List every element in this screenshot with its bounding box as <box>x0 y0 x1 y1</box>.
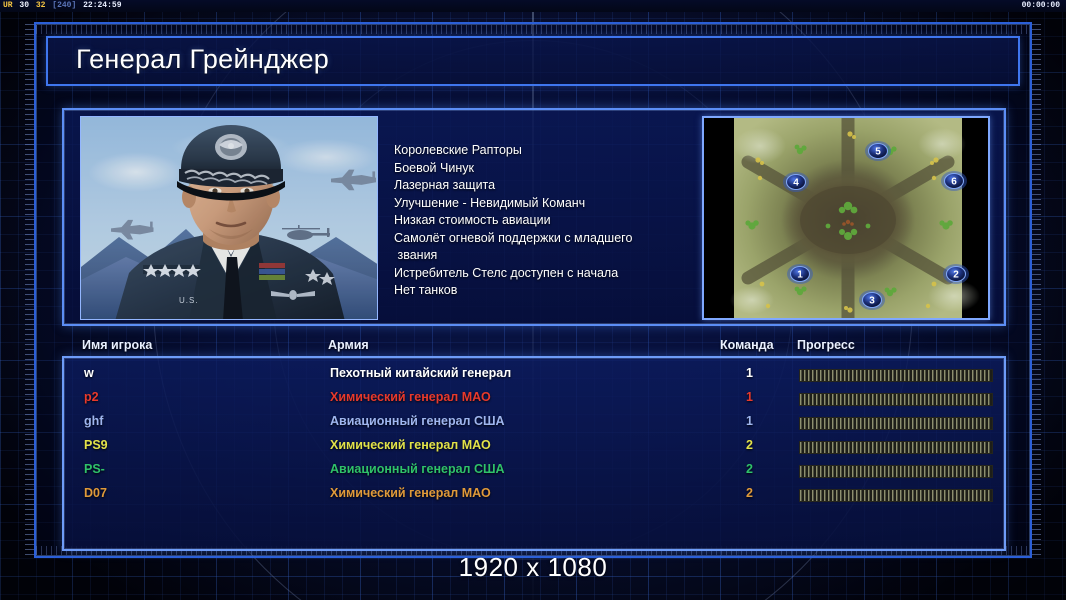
ability-line: Королевские Рапторы <box>394 142 704 160</box>
player-progress-bar <box>799 465 993 478</box>
player-progress-bar <box>799 417 993 430</box>
player-progress-fill <box>800 418 992 429</box>
player-army: Авиационный генерал США <box>330 462 505 476</box>
status-token-1: 30 <box>18 1 30 10</box>
ability-line: Боевой Чинук <box>394 160 704 178</box>
player-progress-bar <box>799 441 993 454</box>
top-status-bar: UR 30 32 [240] 22:24:59 00:00:00 <box>0 0 1066 12</box>
player-team: 2 <box>746 462 753 476</box>
general-portrait: U.S. <box>80 116 378 320</box>
map-start-position-6: 6 <box>941 171 967 191</box>
players-table-header: Имя игрока Армия Команда Прогресс <box>62 338 1006 358</box>
title-panel: Генерал Грейнджер <box>46 36 1020 86</box>
table-row[interactable]: wПехотный китайский генерал1 <box>64 366 1008 390</box>
general-abilities-list: Королевские РапторыБоевой ЧинукЛазерная … <box>394 142 704 300</box>
player-name: PS9 <box>84 438 108 452</box>
player-army: Химический генерал МАО <box>330 438 491 452</box>
ability-line: Улучшение - Невидимый Команч <box>394 195 704 213</box>
map-start-position-4: 4 <box>783 172 809 192</box>
session-clock: 00:00:00 <box>1022 0 1060 12</box>
ruler-right <box>1032 24 1041 556</box>
player-name: p2 <box>84 390 99 404</box>
player-army: Пехотный китайский генерал <box>330 366 511 380</box>
status-tokens: UR 30 32 [240] 22:24:59 <box>2 0 123 12</box>
player-progress-fill <box>800 490 992 501</box>
status-token-4: 22:24:59 <box>82 1 122 10</box>
player-progress-fill <box>800 442 992 453</box>
player-army: Химический генерал МАО <box>330 486 491 500</box>
column-header-name: Имя игрока <box>82 338 152 352</box>
status-token-2: 32 <box>35 1 47 10</box>
player-progress-bar <box>799 369 993 382</box>
player-progress-fill <box>800 466 992 477</box>
resolution-watermark: 1920 x 1080 <box>0 552 1066 583</box>
map-preview: 123456 <box>702 116 990 320</box>
table-row[interactable]: ghfАвиационный генерал США1 <box>64 414 1008 438</box>
column-header-progress: Прогресс <box>797 338 855 352</box>
players-table: wПехотный китайский генерал1p2Химический… <box>62 356 1006 551</box>
table-row[interactable]: PS9Химический генерал МАО2 <box>64 438 1008 462</box>
page-title: Генерал Грейнджер <box>76 44 329 75</box>
ability-line: Низкая стоимость авиации <box>394 212 704 230</box>
ruler-left <box>25 24 34 556</box>
table-row[interactable]: PS-Авиационный генерал США2 <box>64 462 1008 486</box>
player-name: PS- <box>84 462 105 476</box>
player-team: 2 <box>746 438 753 452</box>
map-start-position-5: 5 <box>865 141 891 161</box>
general-info-panel: U.S. <box>62 108 1006 326</box>
svg-text:5: 5 <box>875 147 881 158</box>
player-name: w <box>84 366 94 380</box>
ability-line: Лазерная защита <box>394 177 704 195</box>
status-token-0: UR <box>2 1 14 10</box>
ability-line: Самолёт огневой поддержки с младшего зва… <box>394 230 704 265</box>
player-team: 2 <box>746 486 753 500</box>
table-row[interactable]: p2Химический генерал МАО1 <box>64 390 1008 414</box>
svg-text:2: 2 <box>953 270 959 281</box>
player-team: 1 <box>746 366 753 380</box>
player-name: D07 <box>84 486 107 500</box>
player-name: ghf <box>84 414 103 428</box>
player-army: Авиационный генерал США <box>330 414 505 428</box>
svg-text:4: 4 <box>793 178 799 189</box>
svg-text:6: 6 <box>951 177 957 188</box>
player-progress-fill <box>800 394 992 405</box>
player-team: 1 <box>746 414 753 428</box>
svg-text:3: 3 <box>869 296 875 307</box>
player-army: Химический генерал МАО <box>330 390 491 404</box>
column-header-team: Команда <box>720 338 774 352</box>
player-progress-fill <box>800 370 992 381</box>
ability-line: Истребитель Стелс доступен с начала <box>394 265 704 283</box>
table-row[interactable]: D07Химический генерал МАО2 <box>64 486 1008 510</box>
map-start-position-2: 2 <box>943 264 969 284</box>
svg-text:1: 1 <box>797 270 803 281</box>
column-header-army: Армия <box>328 338 369 352</box>
player-progress-bar <box>799 489 993 502</box>
map-start-position-3: 3 <box>859 290 885 310</box>
status-token-3: [240] <box>51 1 77 10</box>
ability-line: Нет танков <box>394 282 704 300</box>
player-progress-bar <box>799 393 993 406</box>
map-start-position-1: 1 <box>787 264 813 284</box>
player-team: 1 <box>746 390 753 404</box>
